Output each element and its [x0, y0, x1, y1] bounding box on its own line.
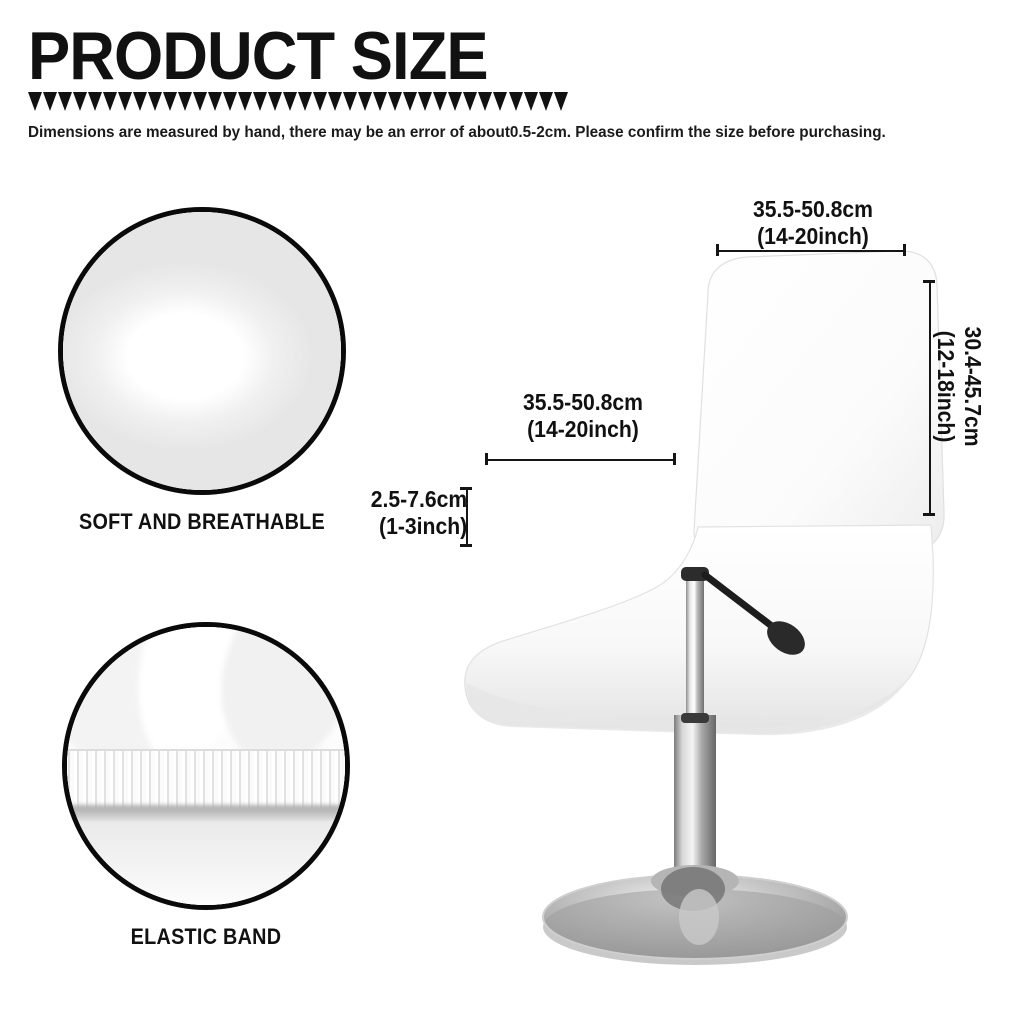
triangle-marker: [238, 92, 252, 111]
triangle-marker: [103, 92, 117, 111]
triangle-marker: [58, 92, 72, 111]
feature-elastic-band: ELASTIC BAND: [62, 622, 350, 950]
dimension-cm: 30.4-45.7cm: [959, 278, 986, 495]
triangle-marker: [418, 92, 432, 111]
feature-soft-and-breathable: SOFT AND BREATHABLE: [58, 207, 346, 535]
elastic-band-image: [62, 622, 350, 910]
triangle-marker: [358, 92, 372, 111]
triangle-marker: [118, 92, 132, 111]
triangle-marker: [208, 92, 222, 111]
triangle-marker: [43, 92, 57, 111]
feature-caption: SOFT AND BREATHABLE: [72, 509, 331, 535]
triangle-marker: [298, 92, 312, 111]
measurement-disclaimer: Dimensions are measured by hand, there m…: [28, 123, 886, 143]
product-size-infographic: PRODUCT SIZE Dimensions are measured by …: [0, 0, 1024, 1024]
triangle-marker: [509, 92, 523, 111]
dimension-line-backrest-width: [716, 244, 906, 256]
triangle-marker: [343, 92, 357, 111]
triangle-marker: [524, 92, 538, 111]
dimension-label-seat-thickness: 2.5-7.6cm (1-3inch): [357, 486, 467, 540]
dimension-line-backrest-height: [923, 280, 935, 516]
dimension-cm: 2.5-7.6cm: [357, 486, 467, 513]
triangle-marker: [373, 92, 387, 111]
triangle-marker: [148, 92, 162, 111]
dimension-inch: (1-3inch): [357, 513, 467, 540]
triangle-divider: [28, 92, 568, 114]
triangle-marker: [178, 92, 192, 111]
triangle-marker: [253, 92, 267, 111]
dimension-line-seat-thickness: [460, 487, 472, 547]
triangle-marker: [133, 92, 147, 111]
triangle-marker: [433, 92, 447, 111]
page-title: PRODUCT SIZE: [28, 22, 488, 90]
triangle-marker: [539, 92, 553, 111]
dimension-label-seat-width: 35.5-50.8cm (14-20inch): [479, 389, 687, 443]
chair-gas-cylinder: [686, 573, 704, 721]
triangle-marker: [163, 92, 177, 111]
triangle-marker: [268, 92, 282, 111]
chair-backrest: [694, 251, 944, 565]
triangle-marker: [403, 92, 417, 111]
triangle-marker: [448, 92, 462, 111]
triangle-marker: [88, 92, 102, 111]
triangle-marker: [223, 92, 237, 111]
triangle-marker: [478, 92, 492, 111]
triangle-marker: [554, 92, 568, 111]
triangle-marker: [493, 92, 507, 111]
dimension-label-backrest-width: 35.5-50.8cm (14-20inch): [709, 196, 917, 250]
dimension-cm: 35.5-50.8cm: [709, 196, 917, 223]
fabric-swatch-image: [58, 207, 346, 495]
dimension-inch: (12-18inch): [932, 278, 959, 495]
triangle-marker: [283, 92, 297, 111]
triangle-marker: [193, 92, 207, 111]
dimension-line-seat-width: [485, 453, 676, 465]
elastic-band-icon: [67, 627, 345, 905]
triangle-marker: [328, 92, 342, 111]
triangle-marker: [463, 92, 477, 111]
triangle-marker: [28, 92, 42, 111]
feature-caption: ELASTIC BAND: [76, 924, 335, 950]
triangle-marker: [388, 92, 402, 111]
dimension-label-backrest-height: 30.4-45.7cm (12-18inch): [932, 278, 986, 495]
chair-cylinder-sleeve: [674, 715, 716, 875]
chair-illustration: [455, 175, 975, 965]
dimension-cm: 35.5-50.8cm: [479, 389, 687, 416]
swirled-fabric-icon: [63, 212, 341, 490]
triangle-marker: [73, 92, 87, 111]
triangle-marker: [313, 92, 327, 111]
dimension-inch: (14-20inch): [479, 416, 687, 443]
